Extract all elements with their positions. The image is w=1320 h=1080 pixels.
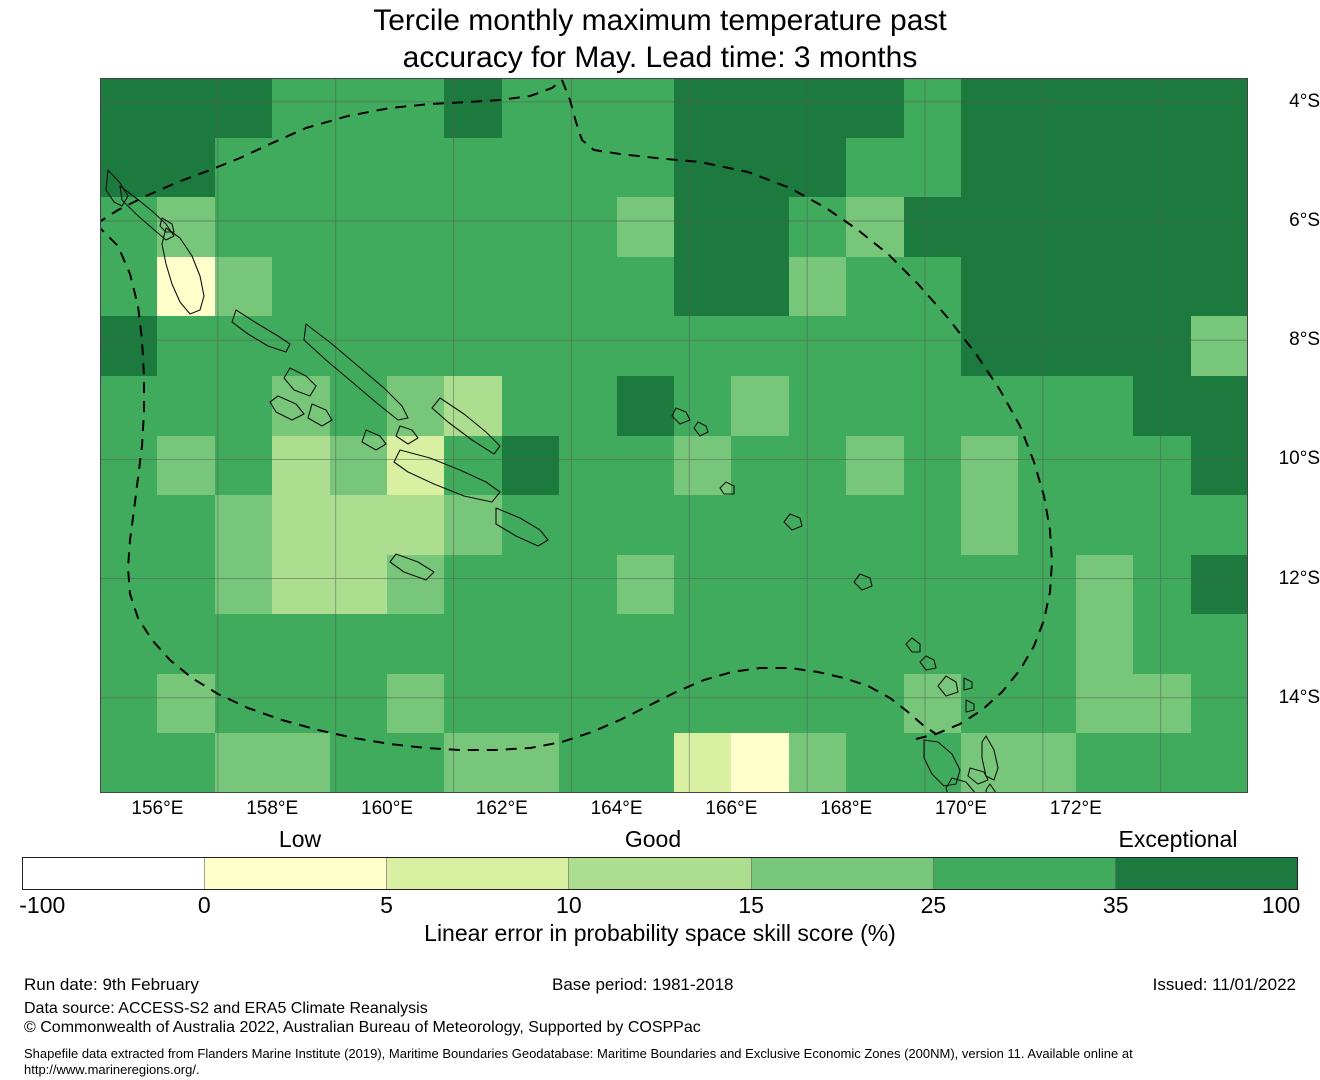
x-axis-tick-156-E: 156°E (131, 798, 183, 820)
footer-top-row: Run date: 9th February Base period: 1981… (0, 975, 1320, 999)
colorbar-quality-good: Good (625, 826, 681, 853)
colorbar-tick-25: 25 (921, 892, 947, 919)
x-axis-tick-164-E: 164°E (591, 798, 643, 820)
colorbar-quality-low: Low (279, 826, 321, 853)
colorbar-segment-6[interactable] (1116, 858, 1297, 889)
colorbar-tick-15: 15 (738, 892, 764, 919)
colorbar-tick-0: 0 (198, 892, 211, 919)
colorbar-tick--100: -100 (19, 892, 65, 919)
colorbar-tick-35: 35 (1103, 892, 1129, 919)
footer-shapefile-url: http://www.marineregions.org/. (24, 1062, 200, 1077)
x-axis-tick-168-E: 168°E (820, 798, 872, 820)
colorbar-tick-10: 10 (556, 892, 582, 919)
footer-base-period: Base period: 1981-2018 (552, 975, 733, 995)
colorbar-segment-5[interactable] (934, 858, 1116, 889)
footer-shapefile-attribution-line1: Shapefile data extracted from Flanders M… (24, 1046, 1133, 1061)
colorbar-tick-100: 100 (1262, 892, 1300, 919)
x-axis-tick-158-E: 158°E (246, 798, 298, 820)
x-axis-tick-170-E: 170°E (935, 798, 987, 820)
colorbar[interactable] (22, 857, 1298, 890)
colorbar-tick-5: 5 (380, 892, 393, 919)
y-axis-tick-6-S: 6°S (1232, 210, 1320, 232)
y-axis-tick-10-S: 10°S (1232, 448, 1320, 470)
map-plot-area[interactable] (100, 78, 1248, 793)
coastline-and-eez-layer (100, 78, 1248, 793)
y-axis-tick-8-S: 8°S (1232, 329, 1320, 351)
y-axis-tick-14-S: 14°S (1232, 687, 1320, 709)
colorbar-axis-title: Linear error in probability space skill … (0, 920, 1320, 947)
eez-boundary (100, 80, 1052, 750)
footer-run-date: Run date: 9th February (24, 975, 199, 995)
footer-data-source: Data source: ACCESS-S2 and ERA5 Climate … (24, 1000, 428, 1018)
colorbar-segment-4[interactable] (752, 858, 934, 889)
colorbar-segment-2[interactable] (387, 858, 569, 889)
colorbar-segment-0[interactable] (23, 858, 205, 889)
footer-issued-date: Issued: 11/01/2022 (1153, 975, 1296, 995)
y-axis-tick-4-S: 4°S (1232, 91, 1320, 113)
colorbar-segment-1[interactable] (205, 858, 387, 889)
coastline-paths (106, 170, 1000, 793)
page-title: Tercile monthly maximum temperature past… (0, 2, 1320, 76)
colorbar-segment-3[interactable] (569, 858, 751, 889)
footer-copyright: © Commonwealth of Australia 2022, Austra… (24, 1019, 701, 1037)
colorbar-quality-exceptional: Exceptional (1119, 826, 1238, 853)
y-axis-tick-12-S: 12°S (1232, 568, 1320, 590)
x-axis-tick-172-E: 172°E (1050, 798, 1102, 820)
x-axis-tick-166-E: 166°E (705, 798, 757, 820)
x-axis-tick-160-E: 160°E (361, 798, 413, 820)
x-axis-tick-162-E: 162°E (476, 798, 528, 820)
colorbar-quality-labels: LowGoodExceptional (0, 826, 1320, 856)
